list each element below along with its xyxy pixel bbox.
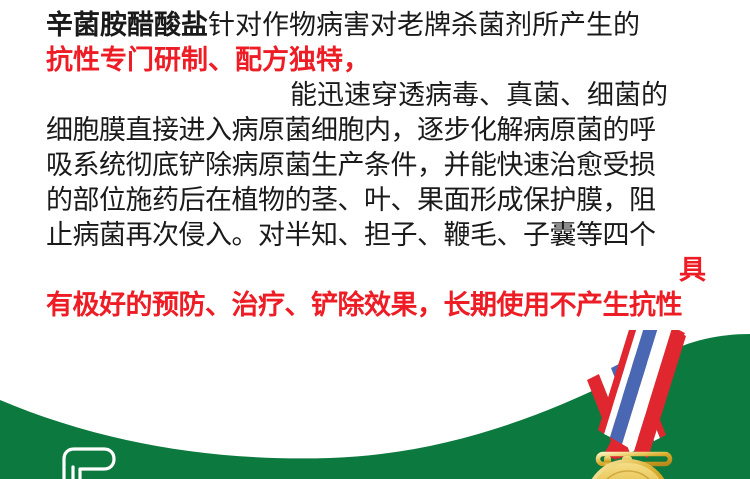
copy-line-9: 有极好的预防、治疗、铲除效果，长期使用不产生抗性 [46,288,706,323]
award-medal-with-ribbon [500,330,750,479]
copy-line-5: 吸系统彻底铲除病原菌生产条件，并能快速治愈受损 [46,148,706,183]
product-name-emphasis: 辛菌胺醋酸盐 [46,10,208,40]
copy-line-3: 能迅速穿透病毒、真菌、细菌的 [46,78,706,113]
promo-copy-block: 辛菌胺醋酸盐针对作物病害对老牌杀菌剂所产生的 抗性专门研制、配方独特， 能迅速穿… [46,8,706,323]
copy-line-2: 抗性专门研制、配方独特， [46,43,706,78]
copy-line-4: 细胞膜直接进入病原菌细胞内，逐步化解病原菌的呼 [46,113,706,148]
company-logo-outline [58,443,138,479]
copy-line-1-rest: 针对作物病害对老牌杀菌剂所产生的 [208,10,640,40]
copy-line-7: 止病菌再次侵入。对半知、担子、鞭毛、子囊等四个 [46,218,706,253]
copy-line-8: 具 [46,253,706,288]
promo-banner-page: 辛菌胺醋酸盐针对作物病害对老牌杀菌剂所产生的 抗性专门研制、配方独特， 能迅速穿… [0,0,750,479]
copy-line-1: 辛菌胺醋酸盐针对作物病害对老牌杀菌剂所产生的 [46,8,706,43]
copy-line-6: 的部位施药后在植物的茎、叶、果面形成保护膜，阻 [46,183,706,218]
